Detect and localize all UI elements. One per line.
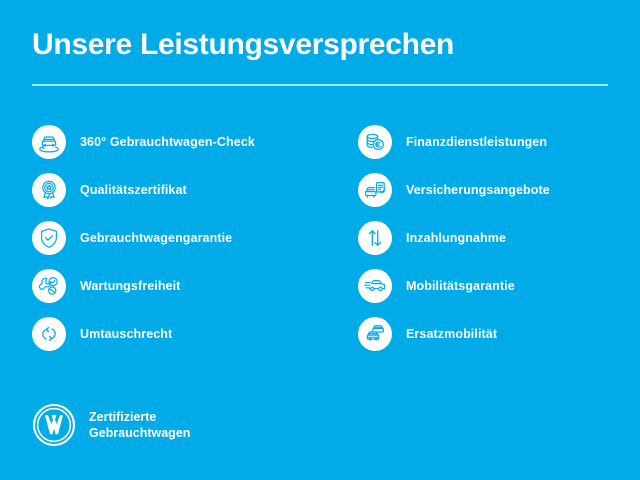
exchange-arrows-icon (32, 317, 66, 351)
promise-label: Versicherungsangebote (406, 183, 550, 197)
footer-text: Zertifizierte Gebrauchtwagen (89, 409, 190, 442)
promises-columns: 360° Gebrauchtwagen-Check Qualitätszerti… (0, 118, 640, 358)
promise-label: 360° Gebrauchtwagen-Check (80, 135, 255, 149)
promise-item: Qualitätszertifikat (32, 166, 320, 214)
promise-label: Ersatzmobilität (406, 327, 497, 341)
promise-label: Gebrauchtwagengarantie (80, 231, 232, 245)
promises-poster: Unsere Leistungsversprechen 360° (0, 0, 640, 480)
promise-item: Mobilitätsgarantie (358, 262, 640, 310)
car-motion-icon (358, 269, 392, 303)
shield-check-icon (32, 221, 66, 255)
footer-line-1: Zertifizierte (89, 409, 190, 426)
promise-label: Inzahlungnahme (406, 231, 506, 245)
promise-item: Umtauschrecht (32, 310, 320, 358)
promise-item: Finanzdienstleistungen (358, 118, 640, 166)
promise-item: Inzahlungnahme (358, 214, 640, 262)
promise-label: Qualitätszertifikat (80, 183, 187, 197)
two-cars-icon (358, 317, 392, 351)
coins-euro-icon (358, 125, 392, 159)
quality-rosette-icon (32, 173, 66, 207)
promises-column-right: Finanzdienstleistungen Versicherungsange… (320, 118, 640, 358)
promise-item: Ersatzmobilität (358, 310, 640, 358)
promise-label: Mobilitätsgarantie (406, 279, 515, 293)
promise-item: Versicherungsangebote (358, 166, 640, 214)
header: Unsere Leistungsversprechen (32, 28, 608, 61)
promise-item: Gebrauchtwagengarantie (32, 214, 320, 262)
promise-item: 360° Gebrauchtwagen-Check (32, 118, 320, 166)
promise-label: Wartungsfreiheit (80, 279, 180, 293)
promise-label: Finanzdienstleistungen (406, 135, 547, 149)
header-divider (32, 84, 608, 86)
footer: Zertifizierte Gebrauchtwagen (32, 403, 190, 447)
car-360-check-icon (32, 125, 66, 159)
page-title: Unsere Leistungsversprechen (32, 28, 608, 61)
promise-item: Wartungsfreiheit (32, 262, 320, 310)
up-down-arrows-icon (358, 221, 392, 255)
wrench-check-icon (32, 269, 66, 303)
vw-logo (32, 403, 76, 447)
footer-line-2: Gebrauchtwagen (89, 425, 190, 442)
promises-column-left: 360° Gebrauchtwagen-Check Qualitätszerti… (0, 118, 320, 358)
promise-label: Umtauschrecht (80, 327, 172, 341)
car-document-check-icon (358, 173, 392, 207)
